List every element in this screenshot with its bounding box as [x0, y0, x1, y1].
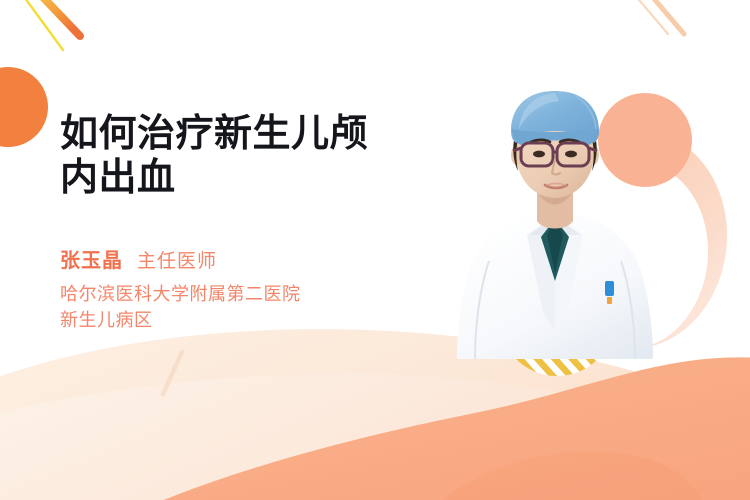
eye-right [565, 151, 577, 158]
diagonal-line-faint [163, 352, 182, 394]
doctor-rank: 主任医师 [137, 246, 217, 273]
orange-circle-decor [0, 67, 48, 147]
doctor-affiliation: 哈尔滨医科大学附属第二医院 新生儿病区 [60, 282, 440, 333]
coat-badge [605, 281, 614, 296]
wave-salmon-lobe [430, 452, 706, 500]
doctor-name: 张玉晶 [60, 244, 123, 273]
doctor-portrait [455, 85, 655, 365]
diagonal-line-yellow [22, 0, 63, 50]
diagonal-line-orange [38, 0, 80, 36]
diagonal-line-peach-thin [634, 0, 668, 34]
wave-salmon-shape [140, 357, 750, 500]
text-block: 如何治疗新生儿颅 内出血 张玉晶 主任医师 哈尔滨医科大学附属第二医院 新生儿病… [60, 112, 440, 333]
diagonal-line-peach-thick [650, 0, 684, 34]
doctor-intro-card: 如何治疗新生儿颅 内出血 张玉晶 主任医师 哈尔滨医科大学附属第二医院 新生儿病… [0, 0, 750, 500]
wave-blush-shape [0, 374, 750, 500]
eye-left [533, 151, 545, 158]
surgical-cap [511, 91, 599, 145]
white-coat [457, 213, 653, 359]
byline: 张玉晶 主任医师 [60, 244, 440, 273]
page-title: 如何治疗新生儿颅 内出血 [60, 112, 440, 200]
